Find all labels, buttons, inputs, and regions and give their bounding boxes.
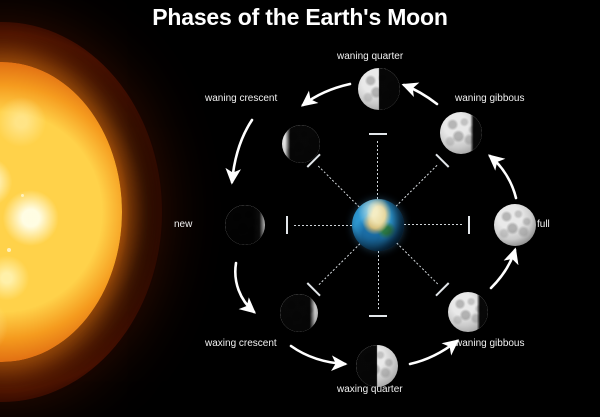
arrow-new-to-waxing-crescent [235,263,254,312]
label-new: new [174,219,192,230]
arrow-full-to-waning-gibbous [490,156,516,198]
arrow-waning-crescent-to-new [232,120,252,182]
arrow-waning-quarter-to-waning-crescent [303,84,350,105]
label-waning-quarter: waning quarter [337,51,403,62]
label-waxing-quarter: waxing quarter [337,384,403,395]
label-full: full [537,219,550,230]
arrow-waxing-crescent-to-waxing-quarter [291,346,345,364]
arrow-gibbous-to-full [491,250,515,288]
moon-full [494,204,536,246]
sun-illustration [0,62,122,362]
moon-waning-gibbous-1 [440,112,482,154]
page-title: Phases of the Earth's Moon [0,4,600,31]
label-waning-gibbous-2: waning gibbous [455,338,525,349]
moon-waxing-quarter [356,345,398,387]
moon-waxing-crescent [280,294,318,332]
moon-waning-quarter [358,68,400,110]
moon-new [225,205,265,245]
moon-waning-crescent [282,125,320,163]
label-waning-gibbous-1: waning gibbous [455,93,525,104]
arrow-waning-gibbous-to-waning-quarter [404,85,437,104]
label-waning-crescent: waning crescent [205,93,277,104]
earth-globe [352,199,404,251]
moon-waning-gibbous-2 [448,292,488,332]
label-waxing-crescent: waxing crescent [205,338,277,349]
arrow-waxing-quarter-to-gibbous [410,341,457,364]
diagram-canvas: Phases of the Earth's Moon [0,0,600,417]
